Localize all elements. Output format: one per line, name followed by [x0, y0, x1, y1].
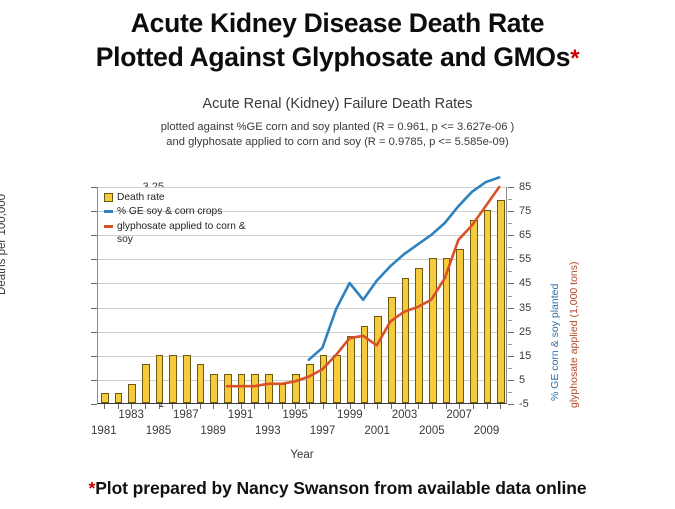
- legend-item-death-rate: Death rate: [104, 191, 246, 204]
- footer-text: Plot prepared by Nancy Swanson from avai…: [95, 478, 586, 498]
- x-axis-tick-label: 2001: [364, 425, 390, 437]
- chart-container: Acute Renal (Kidney) Failure Death Rates…: [0, 96, 675, 474]
- x-axis-tick-label: 1993: [255, 425, 281, 437]
- legend-label-death-rate: Death rate: [117, 191, 165, 204]
- y-axis-label-right-glyphosate: glyphosate applied (1,000 tons): [568, 261, 580, 408]
- x-axis-tick-label: 1983: [118, 409, 144, 421]
- y-axis-right-tick-label: 25: [519, 326, 531, 338]
- chart-title: Acute Renal (Kidney) Failure Death Rates: [0, 96, 675, 112]
- x-axis-tick-label: 1985: [146, 425, 172, 437]
- legend-swatch-glyphosate-icon: [104, 225, 113, 228]
- y-axis-right-tick-mark: [508, 211, 514, 212]
- slide-title: Acute Kidney Disease Death Rate Plotted …: [0, 0, 675, 75]
- footer-note: *Plot prepared by Nancy Swanson from ava…: [0, 478, 675, 499]
- slide-title-line-2: Plotted Against Glyphosate and GMOs*: [0, 40, 675, 74]
- y-axis-right-tick-label: 35: [519, 302, 531, 314]
- legend-swatch-death-rate-icon: [104, 193, 113, 202]
- x-axis-tick-label: 1995: [282, 409, 308, 421]
- legend-item-ge-crops: % GE soy & corn crops: [104, 205, 246, 218]
- title-asterisk: *: [570, 45, 579, 72]
- y-axis-label-right-ge: % GE corn & soy planted: [549, 284, 561, 401]
- x-axis-tick-mark: [254, 404, 255, 409]
- slide-title-line-2-text: Plotted Against Glyphosate and GMOs: [96, 42, 570, 72]
- x-axis-tick-mark: [487, 404, 488, 409]
- y-axis-right-tick-mark: [508, 404, 514, 405]
- x-axis-tick-mark: [309, 404, 310, 409]
- y-axis-right-tick-label: 45: [519, 277, 531, 289]
- y-axis-right-tick-mark: [508, 308, 514, 309]
- y-axis-right-minor-tick: [508, 320, 512, 321]
- x-axis-tick-mark: [159, 404, 160, 409]
- x-axis-tick-mark: [432, 404, 433, 409]
- y-axis-right-tick-mark: [508, 235, 514, 236]
- y-axis-right-tick-mark: [508, 259, 514, 260]
- x-axis-tick-mark: [323, 404, 324, 409]
- chart-subtitle-line-2: and glyphosate applied to corn and soy (…: [0, 135, 675, 150]
- y-axis-right-tick-label: 85: [519, 181, 531, 193]
- y-axis-right-tick-label: 65: [519, 229, 531, 241]
- legend-label-glyphosate: glyphosate applied to corn & soy: [117, 220, 246, 247]
- x-axis-tick-mark: [418, 404, 419, 409]
- x-axis-tick-mark: [364, 404, 365, 409]
- y-axis-label-left: Deaths per 100,000: [0, 194, 8, 295]
- y-axis-right-minor-tick: [508, 247, 512, 248]
- y-axis-right-minor-tick: [508, 296, 512, 297]
- y-axis-right-tick-mark: [508, 380, 514, 381]
- line-series: [309, 177, 499, 359]
- y-axis-right-tick-mark: [508, 187, 514, 188]
- x-axis-tick-label: 2003: [392, 409, 418, 421]
- y-axis-right-tick-mark: [508, 356, 514, 357]
- y-axis-right-tick-label: -5: [519, 398, 529, 410]
- x-axis-tick-label: 1991: [228, 409, 254, 421]
- x-axis-tick-label: 2007: [446, 409, 472, 421]
- x-axis-tick-label: 2005: [419, 425, 445, 437]
- x-axis-tick-mark: [377, 404, 378, 409]
- y-axis-right-tick-label: 75: [519, 205, 531, 217]
- chart-legend: Death rate % GE soy & corn crops glyphos…: [104, 191, 246, 247]
- x-axis-tick-mark: [268, 404, 269, 409]
- y-axis-right-minor-tick: [508, 392, 512, 393]
- x-axis-tick-mark: [473, 404, 474, 409]
- chart-subtitle-line-1: plotted against %GE corn and soy planted…: [0, 120, 675, 135]
- legend-item-glyphosate: glyphosate applied to corn & soy: [104, 220, 246, 247]
- legend-label-ge-crops: % GE soy & corn crops: [117, 205, 222, 218]
- x-axis-tick-label: 1981: [91, 425, 117, 437]
- slide-title-line-1: Acute Kidney Disease Death Rate: [0, 6, 675, 40]
- chart-subtitle: plotted against %GE corn and soy planted…: [0, 120, 675, 150]
- y-axis-right-tick-mark: [508, 332, 514, 333]
- y-axis-tick-mark: [91, 404, 97, 405]
- y-axis-right-tick-label: 5: [519, 374, 525, 386]
- x-axis-tick-mark: [200, 404, 201, 409]
- legend-swatch-ge-crops-icon: [104, 210, 113, 213]
- y-axis-right-tick-label: 55: [519, 253, 531, 265]
- y-axis-right-minor-tick: [508, 199, 512, 200]
- x-axis-tick-label: 1997: [310, 425, 336, 437]
- x-axis-tick-mark: [145, 404, 146, 409]
- x-axis-tick-label: 1989: [200, 425, 226, 437]
- x-axis-tick-mark: [500, 404, 501, 409]
- y-axis-right-tick-mark: [508, 283, 514, 284]
- y-axis-right-minor-tick: [508, 368, 512, 369]
- x-axis-tick-label: 1999: [337, 409, 363, 421]
- x-axis-label: Year: [0, 449, 604, 461]
- y-axis-right-minor-tick: [508, 271, 512, 272]
- y-axis-right-minor-tick: [508, 223, 512, 224]
- y-axis-right-tick-label: 15: [519, 350, 531, 362]
- x-axis-tick-label: 2009: [474, 425, 500, 437]
- y-axis-right-minor-tick: [508, 344, 512, 345]
- x-axis-tick-mark: [104, 404, 105, 409]
- line-series: [227, 187, 499, 386]
- x-axis-tick-label: 1987: [173, 409, 199, 421]
- x-axis-tick-mark: [213, 404, 214, 409]
